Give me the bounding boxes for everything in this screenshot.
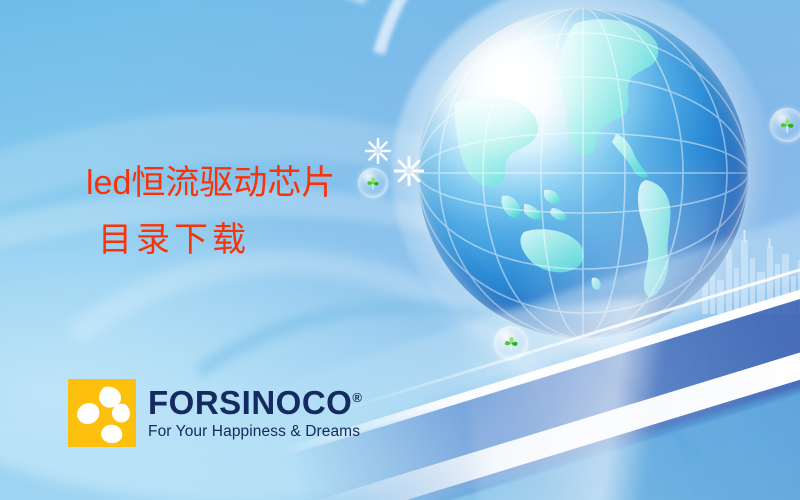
company-logo: FORSINOCO® For Your Happiness & Dreams: [68, 379, 362, 447]
decorative-light-fan: [459, 285, 781, 500]
pinwheel-flower-icon: [68, 379, 136, 447]
sparkle-burst-icon: [365, 138, 391, 169]
bubble-pinwheel-icon: [770, 108, 800, 142]
logo-text-block: FORSINOCO® For Your Happiness & Dreams: [148, 379, 362, 447]
headline-line-1: led恒流驱动芯片: [86, 166, 335, 200]
logo-wordmark-text: FORSINOCO: [148, 384, 352, 421]
bubble-pinwheel-icon: [494, 326, 528, 360]
headline-line-2: 目录下载: [98, 224, 335, 258]
promotional-banner: led恒流驱动芯片 目录下载 FORSINOCO® For Your Happi…: [0, 0, 800, 500]
sparkle-burst-icon: [394, 156, 424, 191]
green-pinwheel-icon: [777, 116, 797, 135]
registered-trademark-icon: ®: [352, 390, 362, 405]
bubble-pinwheel-icon: [358, 168, 388, 198]
green-pinwheel-icon: [501, 334, 521, 353]
logo-wordmark: FORSINOCO®: [148, 386, 362, 419]
green-pinwheel-icon: [364, 175, 382, 192]
logo-tagline: For Your Happiness & Dreams: [148, 424, 362, 440]
headline-text: led恒流驱动芯片 目录下载: [86, 166, 335, 258]
